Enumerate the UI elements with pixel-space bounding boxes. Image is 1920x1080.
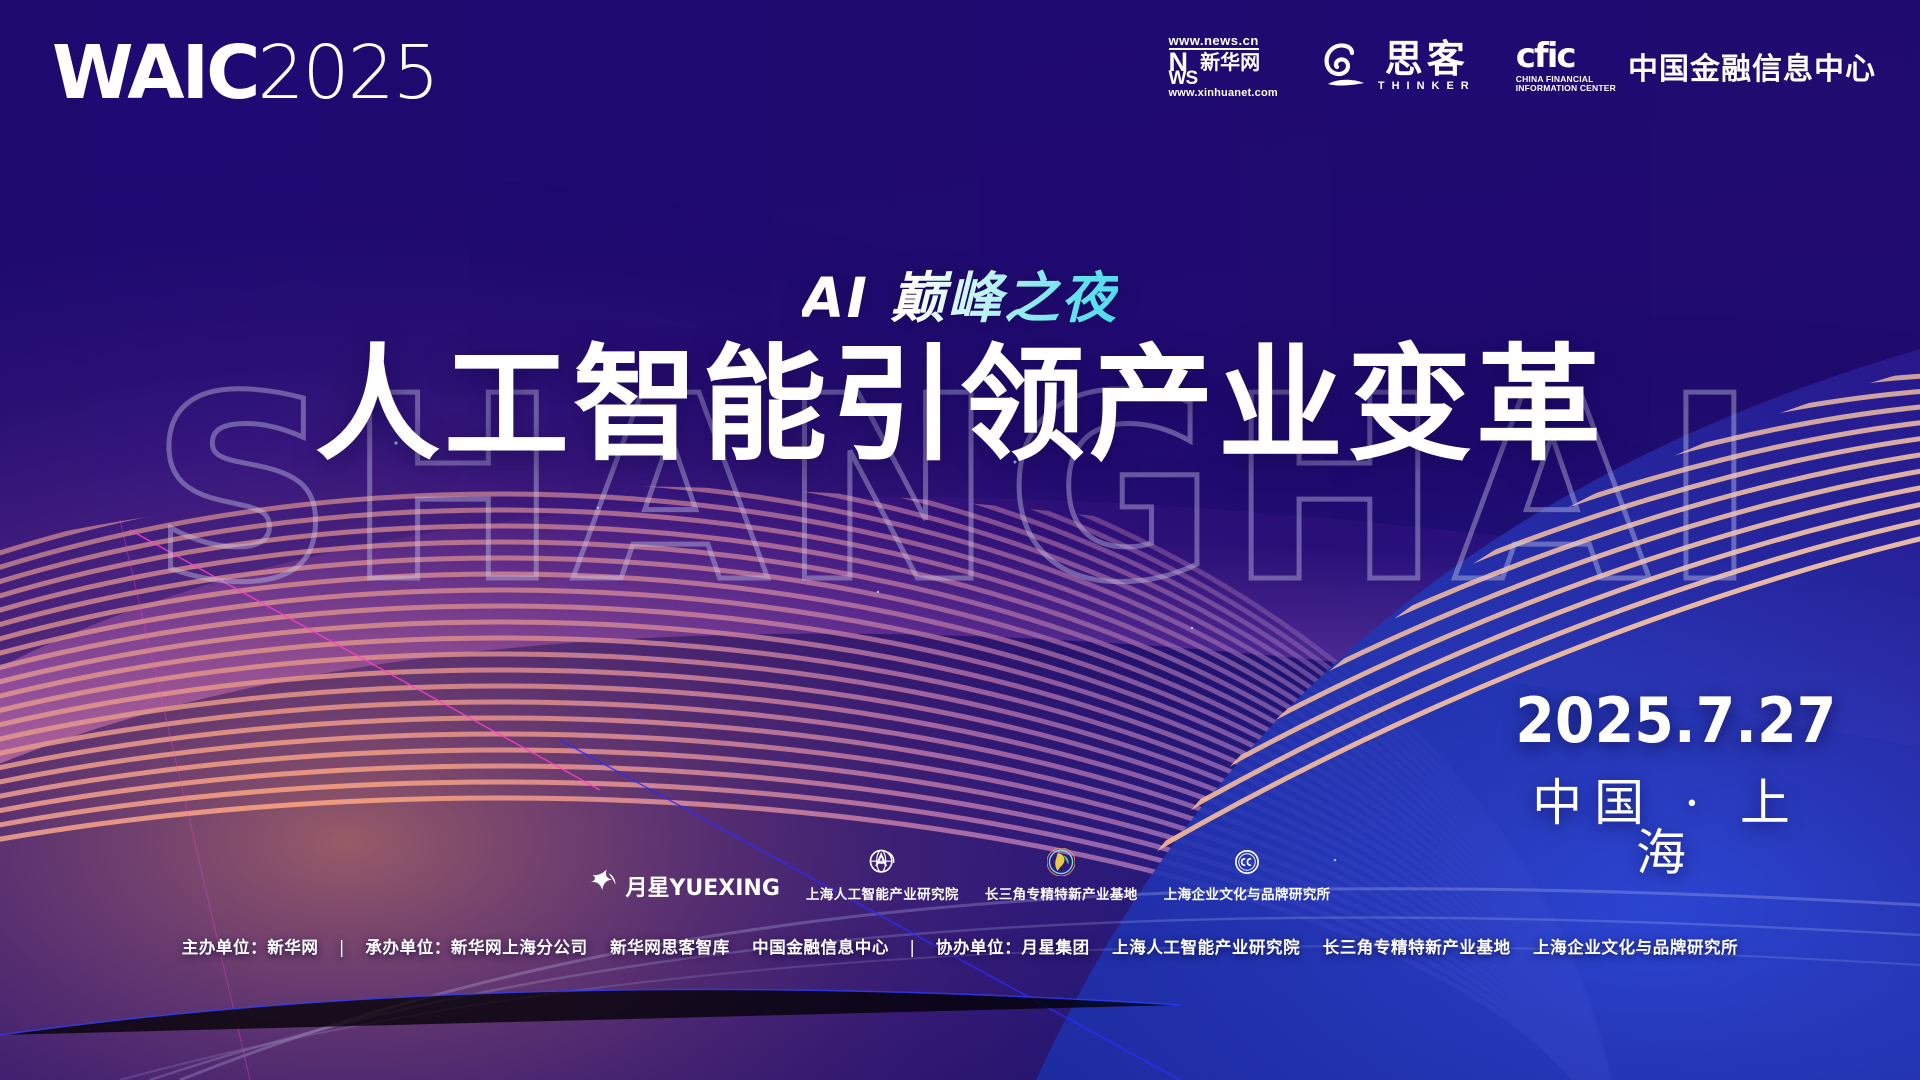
credit-separator-1: | xyxy=(325,938,359,957)
credit-organizer-3: 中国金融信息中心 xyxy=(752,938,889,957)
xinhua-nws-mark: N WS xyxy=(1169,52,1198,86)
thinker-cn-name: 思客 xyxy=(1385,40,1469,78)
poster-canvas: SHANGHAI WAIC2025 www.news.cn N WS 新华网 w… xyxy=(0,0,1920,1080)
credit-organizer-2: 新华网思客智库 xyxy=(610,938,730,957)
shanghai-ai-institute-label: 上海人工智能产业研究院 xyxy=(806,883,959,903)
cfic-wordmark: cfic xyxy=(1516,39,1616,73)
shanghai-ai-institute-icon xyxy=(868,848,896,881)
credit-organizer: 承办单位：新华网上海分公司 xyxy=(365,938,587,957)
cfic-logo: cfic CHINA FINANCIAL INFORMATION CENTER … xyxy=(1516,39,1876,95)
credits-line: 主办单位：新华网 | 承办单位：新华网上海分公司 新华网思客智库 中国金融信息中… xyxy=(0,934,1920,958)
sponsor-logo-shanghai-ai-institute: 上海人工智能产业研究院 xyxy=(806,848,959,903)
thinker-swirl-icon xyxy=(1318,40,1370,92)
cfic-sub-line1: CHINA FINANCIAL xyxy=(1516,74,1594,84)
shanghai-culture-brand-institute-icon xyxy=(1233,848,1261,881)
shanghai-culture-brand-institute-label: 上海企业文化与品牌研究所 xyxy=(1164,883,1331,903)
credit-separator-2: | xyxy=(895,938,929,957)
credit-coorganizer: 协办单位：月星集团 xyxy=(936,938,1090,957)
waic-logo-mark: WAIC xyxy=(52,30,257,116)
waic-logo: WAIC2025 xyxy=(52,36,438,110)
event-headline: 人工智能引领产业变革 xyxy=(0,335,1920,478)
yuexing-label: 月星YUEXING xyxy=(625,870,779,902)
credit-coorganizer-3: 长三角专精特新产业基地 xyxy=(1323,938,1511,957)
sponsor-logo-yuexing: 月星YUEXING xyxy=(589,868,779,903)
cfic-cn-name: 中国金融信息中心 xyxy=(1628,44,1876,88)
thinker-en-name: THINKER xyxy=(1378,81,1476,92)
event-date: 2025.7.27 xyxy=(1515,690,1819,752)
yuexing-star-icon xyxy=(589,868,619,903)
credit-coorganizer-4: 上海企业文化与品牌研究所 xyxy=(1533,938,1738,957)
thinker-logo: 思客 THINKER xyxy=(1318,40,1476,92)
hero-title-block: AI 巅峰之夜 人工智能引领产业变革 xyxy=(0,268,1920,477)
poster-header: WAIC2025 www.news.cn N WS 新华网 www.xinhua… xyxy=(0,0,1920,150)
yangtze-delta-base-icon xyxy=(1047,848,1075,881)
partner-logo-row: www.news.cn N WS 新华网 www.xinhuanet.com xyxy=(1169,34,1876,99)
xinhua-news-logo: www.news.cn N WS 新华网 www.xinhuanet.com xyxy=(1169,34,1278,99)
sponsor-logo-yangtze-delta-base: 长三角专精特新产业基地 xyxy=(985,848,1138,903)
credit-host: 主办单位：新华网 xyxy=(182,938,319,957)
sponsor-logo-shanghai-culture-brand-institute: 上海企业文化与品牌研究所 xyxy=(1164,848,1331,903)
cfic-sub-line2: INFORMATION CENTER xyxy=(1516,83,1616,93)
credit-coorganizer-2: 上海人工智能产业研究院 xyxy=(1112,938,1300,957)
event-subtitle: AI 巅峰之夜 xyxy=(802,268,1118,329)
yangtze-delta-base-label: 长三角专精特新产业基地 xyxy=(985,883,1138,903)
xinhua-letter-ws: WS xyxy=(1169,71,1198,86)
xinhua-url-bottom: www.xinhuanet.com xyxy=(1169,88,1278,99)
sponsor-logo-strip: 月星YUEXING 上海人工智能产业研究院 xyxy=(0,848,1920,903)
xinhua-cn-name: 新华网 xyxy=(1200,52,1260,73)
waic-logo-year: 2025 xyxy=(257,30,437,116)
